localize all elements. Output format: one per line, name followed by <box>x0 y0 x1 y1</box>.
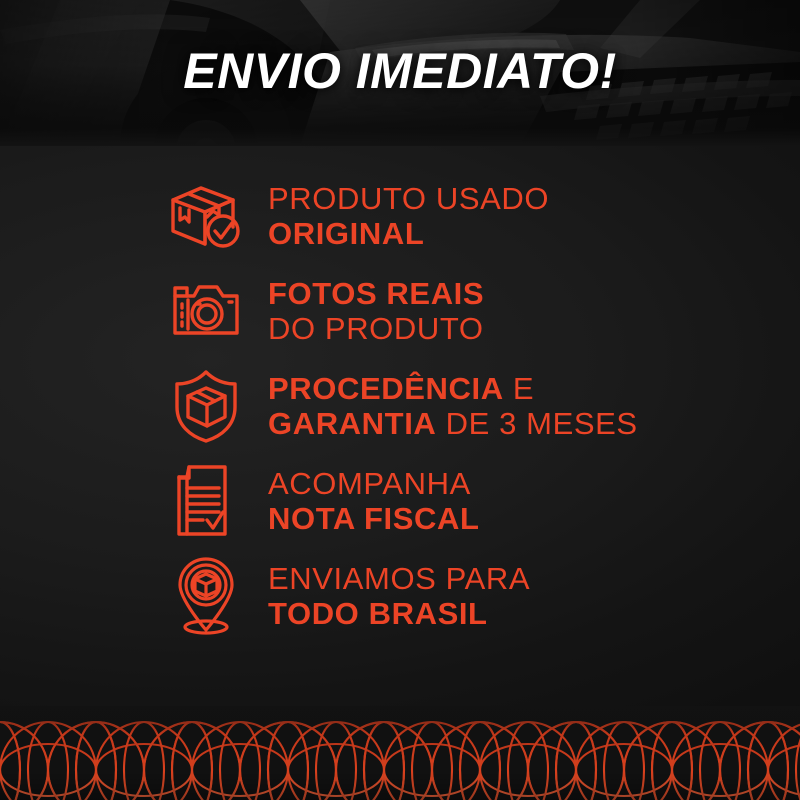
banner-title: ENVIO IMEDIATO! <box>0 42 800 100</box>
feature-row: PRODUTO USADO ORIGINAL <box>0 168 800 263</box>
invoice-check-icon <box>160 459 252 543</box>
feature-line-1: PRODUTO USADO <box>268 181 549 216</box>
camera-icon <box>160 269 252 353</box>
feature-line-2: NOTA FISCAL <box>268 501 480 536</box>
feature-text: PRODUTO USADO ORIGINAL <box>268 181 549 251</box>
feature-line-1: ENVIAMOS PARA <box>268 561 530 596</box>
feature-line-1: PROCEDÊNCIA E <box>268 371 638 406</box>
feature-line-1-bold: PROCEDÊNCIA <box>268 371 504 406</box>
feature-line-2: ORIGINAL <box>268 216 549 251</box>
feature-line-1: ACOMPANHA <box>268 466 480 501</box>
feature-line-1: FOTOS REAIS <box>268 276 484 311</box>
feature-line-2-light: DE 3 MESES <box>436 406 637 441</box>
map-pin-box-icon <box>160 554 252 638</box>
feature-row: ACOMPANHA NOTA FISCAL <box>0 453 800 548</box>
features-list: PRODUTO USADO ORIGINAL <box>0 168 800 643</box>
shield-box-icon <box>160 364 252 448</box>
banner-header: ENVIO IMEDIATO! <box>0 0 800 146</box>
feature-row: FOTOS REAIS DO PRODUTO <box>0 263 800 358</box>
features-section: PRODUTO USADO ORIGINAL <box>0 146 800 706</box>
decorative-pattern <box>0 706 800 800</box>
feature-row: PROCEDÊNCIA E GARANTIA DE 3 MESES <box>0 358 800 453</box>
petal-lattice-svg <box>0 706 800 800</box>
feature-line-1-light: E <box>504 371 535 406</box>
feature-text: PROCEDÊNCIA E GARANTIA DE 3 MESES <box>268 371 638 441</box>
feature-text: ENVIAMOS PARA TODO BRASIL <box>268 561 530 631</box>
promo-banner: ENVIO IMEDIATO! <box>0 0 800 800</box>
feature-line-2: TODO BRASIL <box>268 596 530 631</box>
feature-text: ACOMPANHA NOTA FISCAL <box>268 466 480 536</box>
feature-line-2: GARANTIA DE 3 MESES <box>268 406 638 441</box>
feature-line-2-bold: GARANTIA <box>268 406 436 441</box>
feature-text: FOTOS REAIS DO PRODUTO <box>268 276 484 346</box>
box-check-icon <box>160 174 252 258</box>
feature-line-2: DO PRODUTO <box>268 311 484 346</box>
feature-row: ENVIAMOS PARA TODO BRASIL <box>0 548 800 643</box>
